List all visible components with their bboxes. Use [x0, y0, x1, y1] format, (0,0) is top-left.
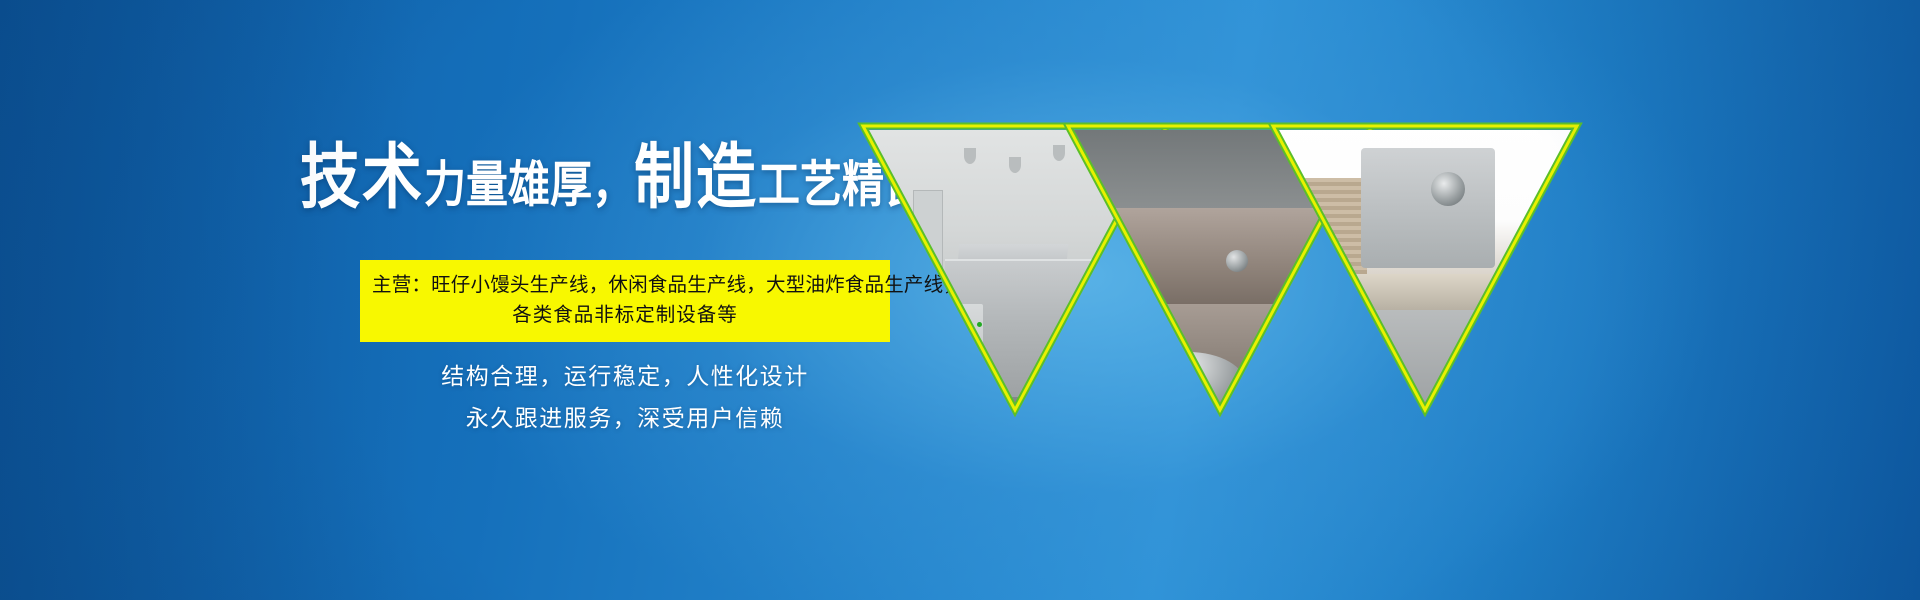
- promo-banner: 技术力量雄厚，制造工艺精良 主营：旺仔小馒头生产线，休闲食品生产线，大型油炸食品…: [0, 0, 1920, 600]
- background-vignette: [0, 0, 1920, 600]
